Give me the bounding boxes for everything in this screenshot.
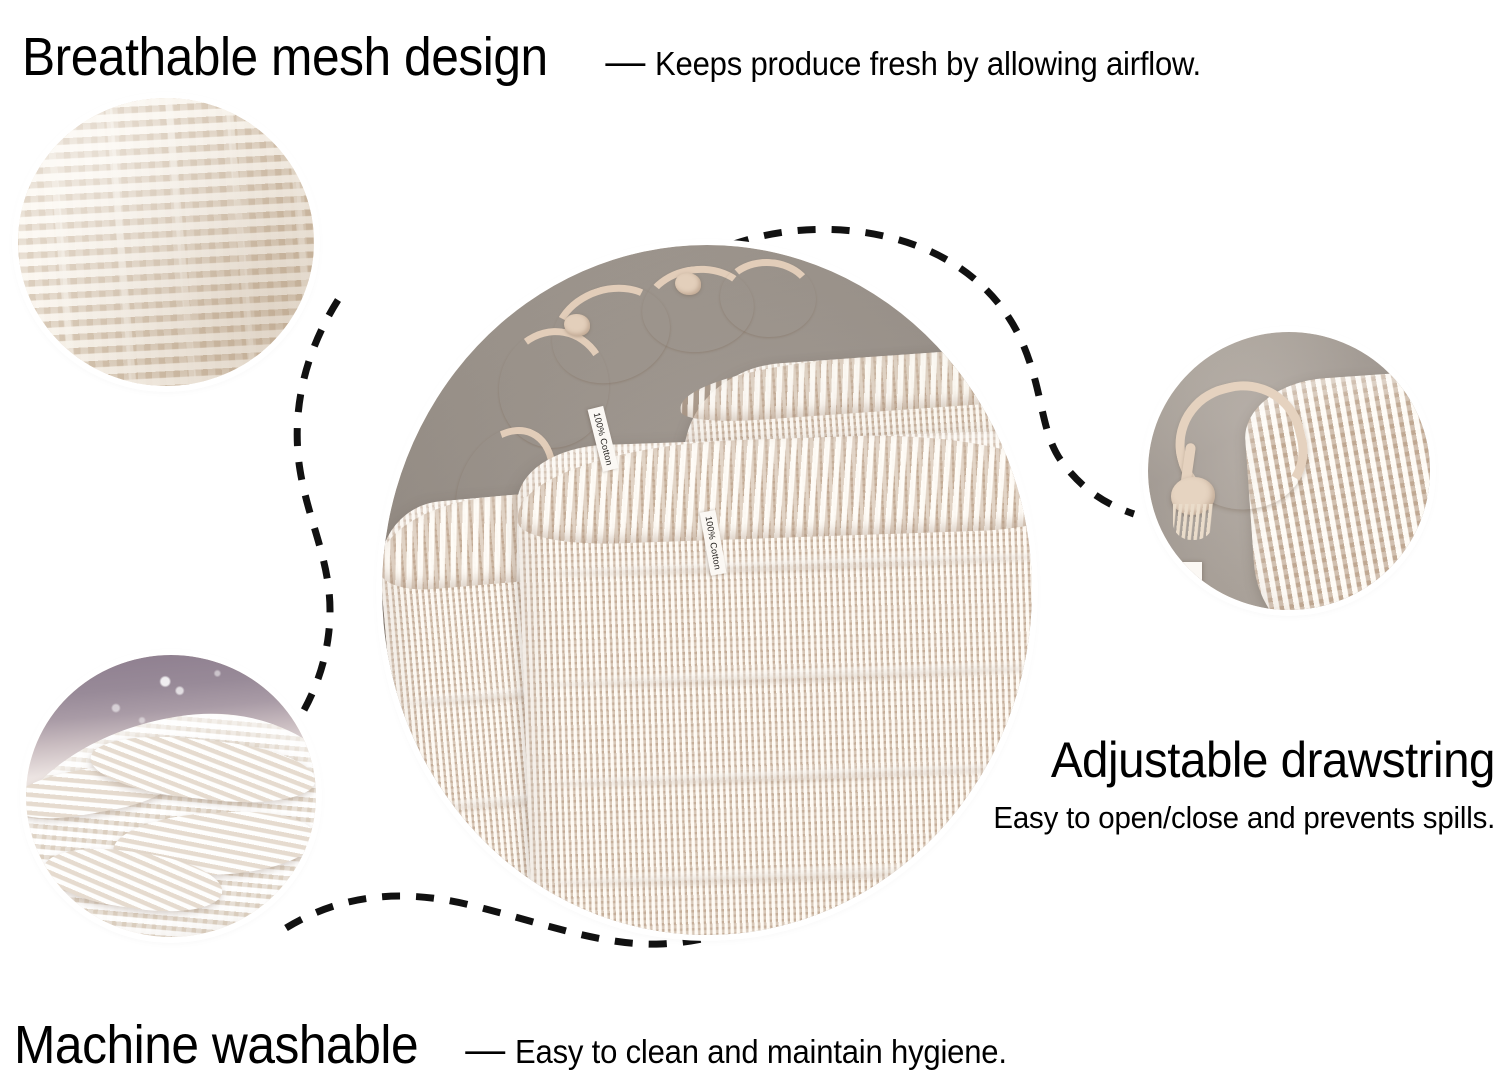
photo-washed-fabric-inner: [26, 655, 316, 937]
feature-description-machine-washable: Easy to clean and maintain hygiene.: [515, 1035, 1007, 1068]
feature-description-breathable-mesh: Keeps produce fresh by allowing airflow.: [655, 47, 1201, 80]
drawstring-knot: [675, 273, 701, 295]
infographic-canvas: Breathable mesh design — Keeps produce f…: [0, 0, 1500, 1090]
bag-crease: [549, 760, 1032, 790]
drawstring-knot: [564, 314, 590, 336]
photo-mesh-weave-inner: [18, 98, 314, 386]
photo-mesh-weave-closeup: [18, 98, 314, 386]
feature-description-adjustable-drawstring: Easy to open/close and prevents spills.: [993, 802, 1495, 833]
bag-crease: [553, 860, 1032, 890]
photo-drawstring-closeup: Cotton: [1148, 332, 1430, 610]
feature-title-adjustable-drawstring: Adjustable drawstring: [982, 735, 1495, 785]
drawstring-tassel: [1173, 504, 1213, 540]
photo-washed-fabric-closeup: [26, 655, 316, 937]
mesh-weave-texture: [18, 98, 314, 386]
photo-drawstring-inner: Cotton: [1148, 332, 1430, 610]
feature-subrow-right: — Easy to open/close and prevents spills…: [955, 795, 1495, 835]
bag-crease: [546, 661, 1032, 691]
feature-heading-top: Breathable mesh design — Keeps produce f…: [22, 30, 1236, 84]
feature-title-breathable-mesh: Breathable mesh design: [22, 30, 548, 84]
photo-cotton-mesh-bags-main: 100% Cotton 100% Cotton: [382, 245, 1032, 935]
photo-main-inner: 100% Cotton 100% Cotton: [382, 245, 1032, 935]
feature-heading-right: Adjustable drawstring — Easy to open/clo…: [955, 735, 1495, 835]
mesh-weave-strands: [18, 98, 314, 386]
heading-separator-bottom: —: [453, 1030, 515, 1070]
feature-heading-bottom: Machine washable — Easy to clean and mai…: [14, 1018, 1038, 1072]
feature-title-machine-washable: Machine washable: [14, 1018, 418, 1072]
heading-separator-top: —: [593, 42, 655, 82]
bag-crease: [542, 551, 1032, 581]
mesh-bag-front: [516, 429, 1032, 935]
bag-gathered-top: [516, 429, 1032, 548]
cotton-label: Cotton: [1163, 561, 1202, 610]
